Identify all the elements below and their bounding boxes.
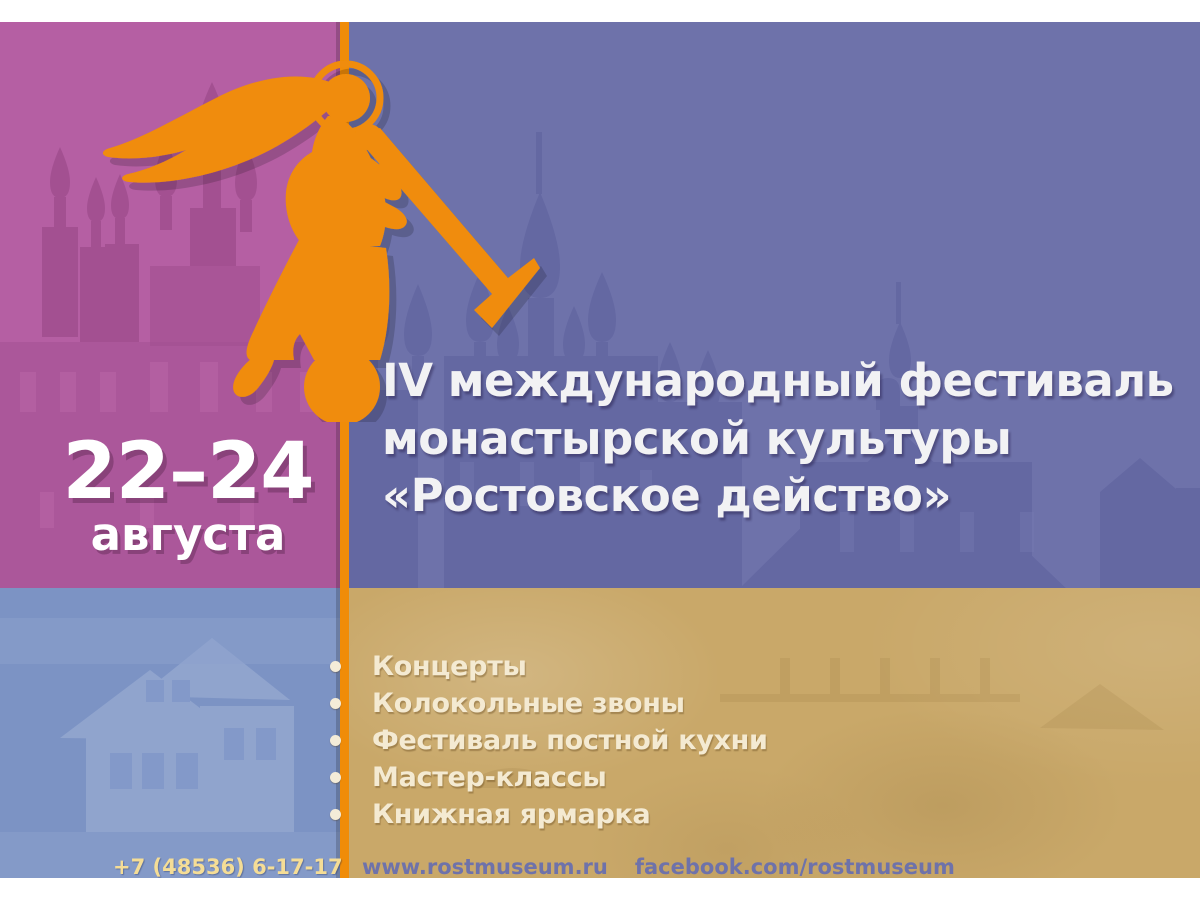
- title-line-3: «Ростовское действо»: [382, 467, 1182, 525]
- quadrant-bottom-left-blue: [0, 588, 340, 878]
- title-line-1: IV международный фестиваль: [382, 352, 1182, 410]
- event-date-block: 22–24 августа: [48, 437, 328, 558]
- program-item-label: Книжная ярмарка: [372, 799, 650, 830]
- list-item: Колокольные звоны: [330, 685, 768, 722]
- list-item: Фестиваль постной кухни: [330, 722, 768, 759]
- contact-links: www.rostmuseum.ru facebook.com/rostmuseu…: [362, 855, 955, 878]
- bullet-dot-icon: [330, 809, 341, 820]
- program-list: Концерты Колокольные звоны Фестиваль пос…: [330, 648, 768, 833]
- program-item-label: Мастер-классы: [372, 762, 606, 793]
- date-range: 22–24: [48, 437, 328, 509]
- bullet-dot-icon: [330, 661, 341, 672]
- website-link[interactable]: www.rostmuseum.ru: [362, 855, 608, 878]
- facebook-link[interactable]: facebook.com/rostmuseum: [635, 855, 955, 878]
- list-item: Мастер-классы: [330, 759, 768, 796]
- list-item: Концерты: [330, 648, 768, 685]
- page-title: IV международный фестиваль монастырской …: [382, 352, 1182, 525]
- program-item-label: Колокольные звоны: [372, 688, 685, 719]
- bullet-dot-icon: [330, 698, 341, 709]
- bullet-dot-icon: [330, 772, 341, 783]
- bullet-dot-icon: [330, 735, 341, 746]
- program-item-label: Концерты: [372, 651, 527, 682]
- contact-phone: +7 (48536) 6-17-17: [113, 855, 343, 878]
- wooden-house-photo-backdrop-icon: [0, 588, 340, 878]
- list-item: Книжная ярмарка: [330, 796, 768, 833]
- title-line-2: монастырской культуры: [382, 410, 1182, 468]
- program-item-label: Фестиваль постной кухни: [372, 725, 768, 756]
- date-month: августа: [48, 511, 328, 558]
- festival-poster: 22–24 августа IV международный фестиваль…: [0, 0, 1200, 900]
- poster-canvas: 22–24 августа IV международный фестиваль…: [0, 22, 1200, 878]
